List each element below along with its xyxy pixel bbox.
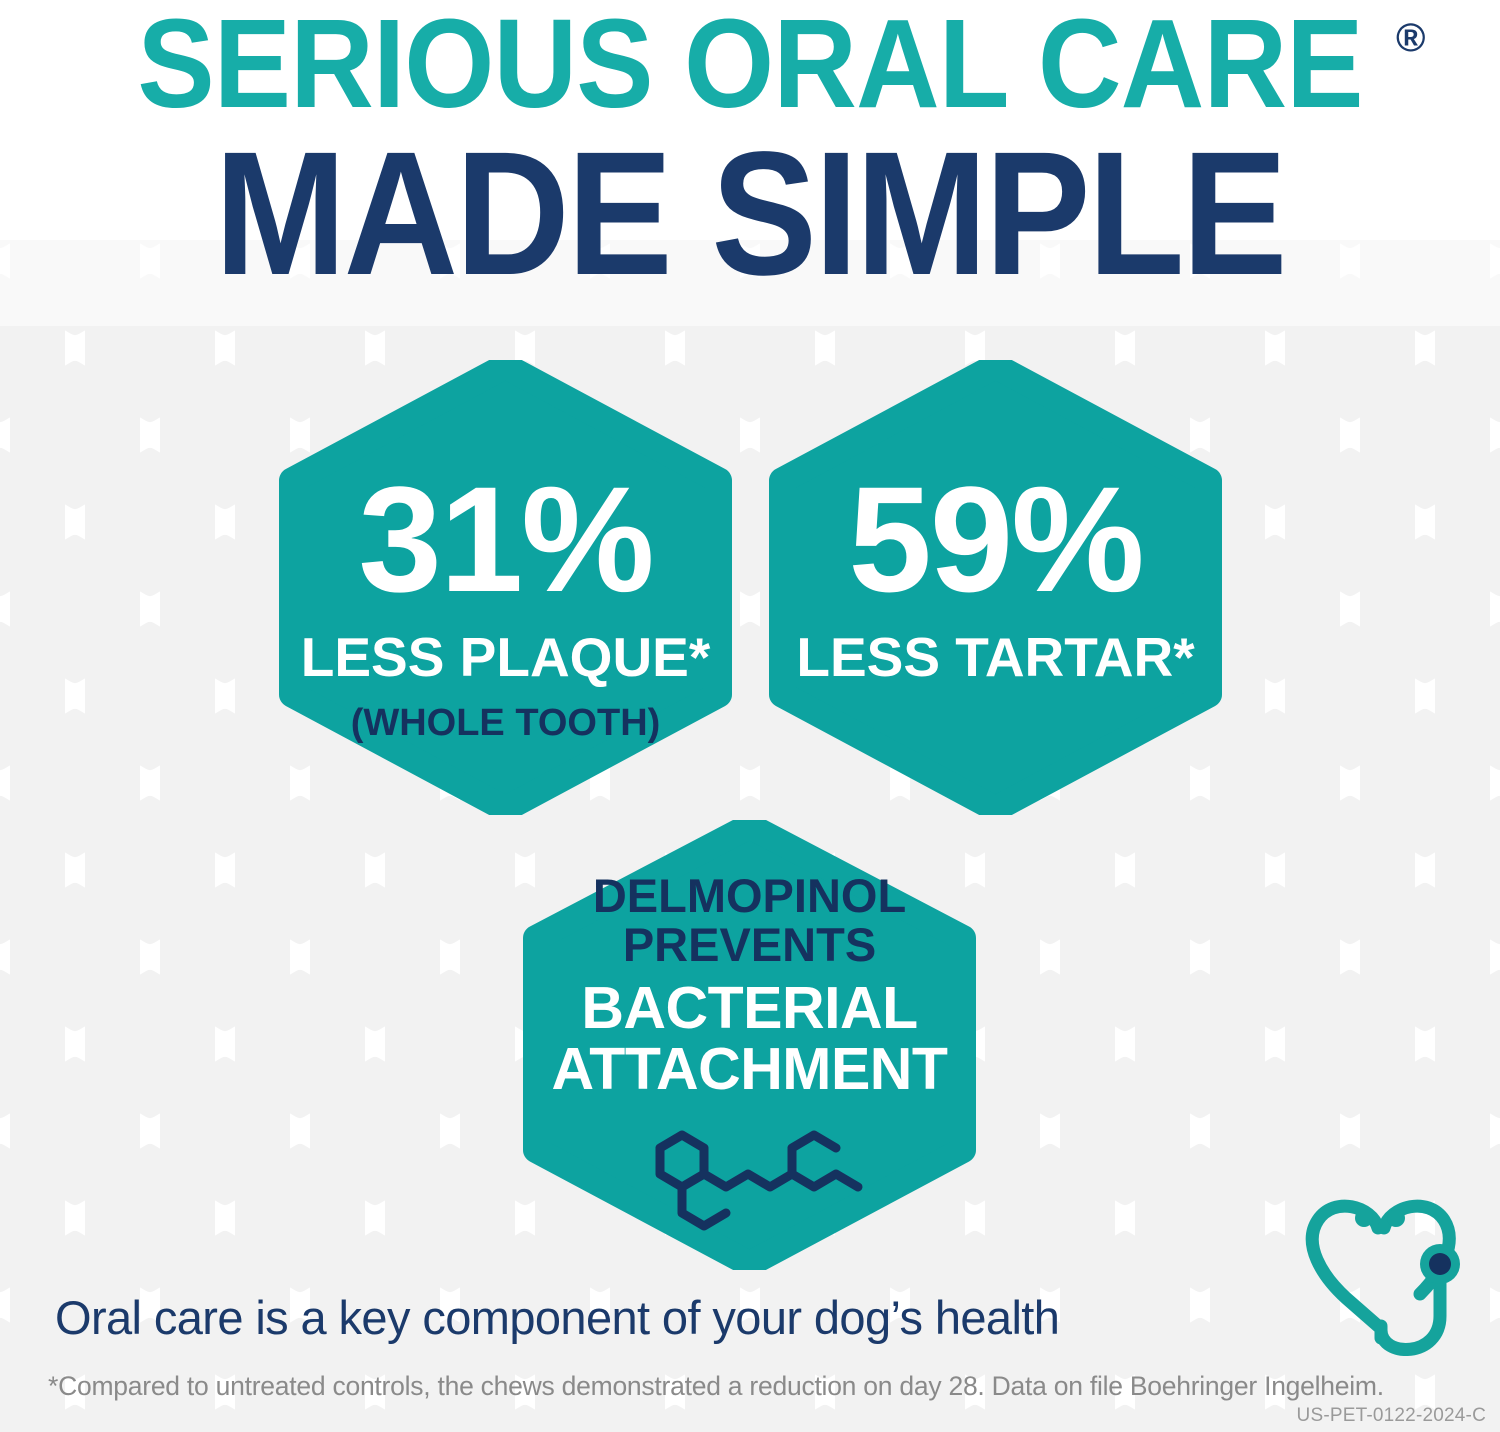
hexagon-shape-plaque (278, 360, 733, 815)
stethoscope-heart-icon (1292, 1198, 1470, 1356)
stat-badge-tartar: 59% LESS TARTAR* (768, 360, 1223, 815)
stethoscope-ear-tip-right (1387, 1209, 1405, 1227)
hexagon-shape-tartar (768, 360, 1223, 815)
headline-block: SERIOUS ORAL CARE MADE SIMPLE ® (0, 0, 1500, 299)
headline-line-2-wrapper: MADE SIMPLE (0, 131, 1500, 298)
document-code: US-PET-0122-2024-C (1297, 1405, 1486, 1427)
registered-trademark-icon: ® (1396, 18, 1425, 58)
stat-badge-plaque: 31% LESS PLAQUE* (WHOLE TOOTH) (278, 360, 733, 815)
stat-badge-delmopinol: DELMOPINOL PREVENTS BACTERIAL ATTACHMENT (522, 820, 977, 1270)
molecule-icon (630, 1115, 870, 1235)
stethoscope-ear-tip-left (1355, 1209, 1373, 1227)
footer-tagline: Oral care is a key component of your dog… (55, 1290, 1059, 1345)
footnote-text: *Compared to untreated controls, the che… (48, 1371, 1384, 1402)
stethoscope-chestpiece-inner (1429, 1253, 1451, 1275)
headline-line-2: MADE SIMPLE (215, 131, 1285, 298)
oral-care-infographic: SERIOUS ORAL CARE MADE SIMPLE ® 31% LESS… (0, 0, 1500, 1432)
headline-line-1: SERIOUS ORAL CARE (60, 2, 1440, 125)
